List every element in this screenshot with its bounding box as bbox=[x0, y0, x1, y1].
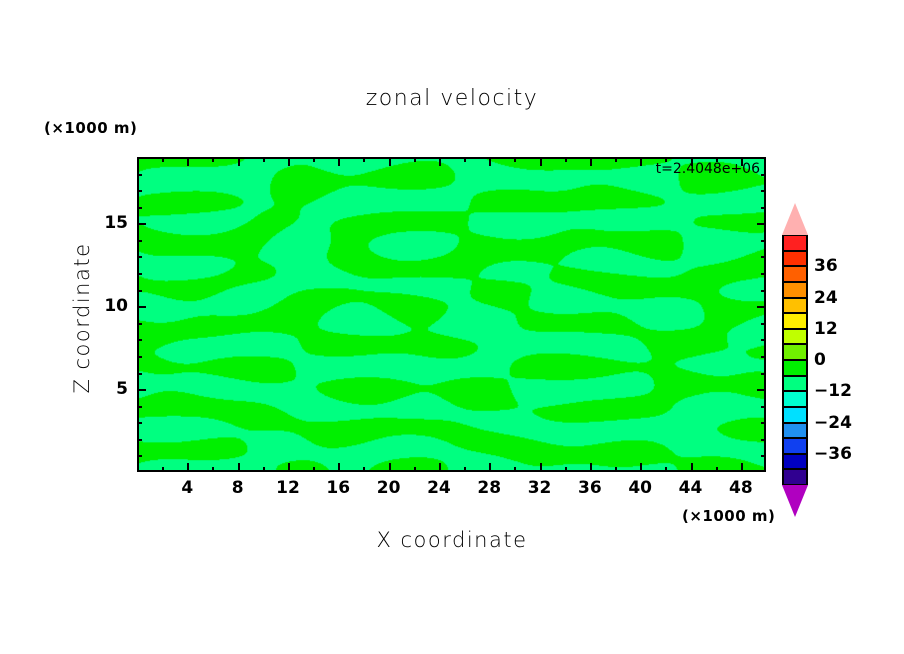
y-tick-right bbox=[761, 406, 766, 408]
x-tick bbox=[288, 463, 290, 472]
y-tick bbox=[137, 373, 142, 375]
x-tick-top bbox=[414, 157, 416, 162]
x-tick-label: 12 bbox=[276, 478, 300, 498]
x-tick-top bbox=[212, 157, 214, 162]
x-tick-label: 16 bbox=[326, 478, 350, 498]
y-tick-right bbox=[761, 339, 766, 341]
colorbar-band bbox=[782, 313, 808, 329]
y-tick-right bbox=[761, 356, 766, 358]
y-tick-label: 5 bbox=[88, 379, 128, 399]
x-tick-top bbox=[489, 157, 491, 166]
x-tick-top bbox=[514, 157, 516, 162]
x-tick-top bbox=[313, 157, 315, 162]
x-tick-label: 28 bbox=[477, 478, 501, 498]
y-axis-unit-label: (×1000 m) bbox=[44, 119, 137, 137]
x-tick-top bbox=[615, 157, 617, 162]
x-axis-title: X coordinate bbox=[137, 528, 767, 552]
y-tick-right bbox=[757, 306, 766, 308]
y-tick bbox=[137, 455, 142, 457]
colorbar-under-arrow bbox=[782, 485, 808, 517]
y-tick bbox=[137, 290, 142, 292]
y-tick bbox=[137, 273, 142, 275]
x-tick-top bbox=[187, 157, 189, 166]
y-tick-right bbox=[761, 323, 766, 325]
x-tick bbox=[741, 463, 743, 472]
x-tick bbox=[514, 467, 516, 472]
y-tick-right bbox=[757, 389, 766, 391]
colorbar-band bbox=[782, 360, 808, 376]
x-tick bbox=[389, 463, 391, 472]
y-tick-right bbox=[757, 223, 766, 225]
y-tick bbox=[137, 174, 142, 176]
y-tick-right bbox=[761, 207, 766, 209]
colorbar-band bbox=[782, 329, 808, 345]
colorbar-tick-label: 0 bbox=[814, 350, 826, 370]
y-tick-right bbox=[761, 290, 766, 292]
x-tick bbox=[439, 463, 441, 472]
x-tick-label: 4 bbox=[181, 478, 193, 498]
y-tick-right bbox=[761, 422, 766, 424]
x-tick bbox=[212, 467, 214, 472]
y-tick bbox=[137, 439, 142, 441]
colorbar-band bbox=[782, 454, 808, 470]
x-tick bbox=[363, 467, 365, 472]
x-tick-top bbox=[439, 157, 441, 166]
y-tick bbox=[137, 306, 146, 308]
x-tick-top bbox=[590, 157, 592, 166]
x-tick-top bbox=[389, 157, 391, 166]
x-tick bbox=[464, 467, 466, 472]
y-tick-right bbox=[761, 273, 766, 275]
colorbar-band bbox=[782, 298, 808, 314]
y-tick bbox=[137, 406, 142, 408]
y-tick bbox=[137, 389, 146, 391]
x-tick bbox=[263, 467, 265, 472]
x-tick-top bbox=[288, 157, 290, 166]
x-tick bbox=[691, 463, 693, 472]
colorbar-tick-label: −36 bbox=[814, 444, 852, 464]
colorbar-band bbox=[782, 235, 808, 251]
x-tick-top bbox=[464, 157, 466, 162]
y-tick bbox=[137, 256, 142, 258]
x-tick-top bbox=[338, 157, 340, 166]
colorbar-band bbox=[782, 391, 808, 407]
y-tick bbox=[137, 323, 142, 325]
colorbar-over-arrow bbox=[782, 203, 808, 235]
velocity-field bbox=[139, 159, 764, 470]
x-tick-top bbox=[238, 157, 240, 166]
colorbar-band bbox=[782, 438, 808, 454]
x-tick-label: 36 bbox=[578, 478, 602, 498]
x-tick bbox=[615, 467, 617, 472]
x-tick-top bbox=[565, 157, 567, 162]
y-tick bbox=[137, 223, 146, 225]
x-tick bbox=[565, 467, 567, 472]
colorbar-band bbox=[782, 251, 808, 267]
y-tick-label: 15 bbox=[88, 213, 128, 233]
colorbar-band bbox=[782, 376, 808, 392]
y-tick-right bbox=[761, 256, 766, 258]
colorbar-tick-label: 24 bbox=[814, 288, 838, 308]
y-tick-right bbox=[761, 439, 766, 441]
x-tick-label: 8 bbox=[232, 478, 244, 498]
y-tick bbox=[137, 240, 142, 242]
y-tick bbox=[137, 356, 142, 358]
x-tick-top bbox=[363, 157, 365, 162]
x-tick bbox=[162, 467, 164, 472]
x-tick-label: 32 bbox=[528, 478, 552, 498]
y-tick-right bbox=[761, 174, 766, 176]
colorbar-tick-label: 36 bbox=[814, 256, 838, 276]
contour-plot-area: t=2.4048e+06 bbox=[137, 157, 766, 472]
y-tick bbox=[137, 339, 142, 341]
colorbar-band bbox=[782, 282, 808, 298]
x-tick-top bbox=[162, 157, 164, 162]
x-tick bbox=[187, 463, 189, 472]
plot-canvas: zonal velocity (×1000 m) (×1000 m) X coo… bbox=[0, 0, 904, 654]
x-tick bbox=[716, 467, 718, 472]
x-tick bbox=[489, 463, 491, 472]
colorbar-band bbox=[782, 423, 808, 439]
y-tick bbox=[137, 190, 142, 192]
x-tick bbox=[665, 467, 667, 472]
colorbar-band bbox=[782, 266, 808, 282]
colorbar-band bbox=[782, 344, 808, 360]
y-tick-right bbox=[761, 373, 766, 375]
page-title: zonal velocity bbox=[0, 86, 904, 111]
x-tick bbox=[640, 463, 642, 472]
x-tick bbox=[238, 463, 240, 472]
y-tick-right bbox=[761, 455, 766, 457]
x-tick-label: 20 bbox=[377, 478, 401, 498]
x-tick bbox=[540, 463, 542, 472]
x-tick bbox=[414, 467, 416, 472]
colorbar-tick-label: 12 bbox=[814, 319, 838, 339]
y-tick-label: 10 bbox=[88, 296, 128, 316]
colorbar-tick-label: −24 bbox=[814, 413, 852, 433]
time-annotation: t=2.4048e+06 bbox=[656, 161, 760, 177]
x-tick bbox=[590, 463, 592, 472]
x-tick-top bbox=[640, 157, 642, 166]
y-tick-right bbox=[761, 240, 766, 242]
x-tick bbox=[313, 467, 315, 472]
y-tick-right bbox=[761, 190, 766, 192]
y-tick bbox=[137, 207, 142, 209]
colorbar bbox=[782, 235, 808, 485]
x-tick-label: 44 bbox=[679, 478, 703, 498]
x-tick bbox=[338, 463, 340, 472]
colorbar-tick-label: −12 bbox=[814, 381, 852, 401]
colorbar-band bbox=[782, 407, 808, 423]
x-tick-label: 24 bbox=[427, 478, 451, 498]
x-tick-top bbox=[263, 157, 265, 162]
x-axis-unit-label: (×1000 m) bbox=[682, 507, 775, 525]
colorbar-band bbox=[782, 469, 808, 485]
x-tick-top bbox=[540, 157, 542, 166]
x-tick-label: 40 bbox=[628, 478, 652, 498]
x-tick-label: 48 bbox=[729, 478, 753, 498]
y-tick bbox=[137, 422, 142, 424]
